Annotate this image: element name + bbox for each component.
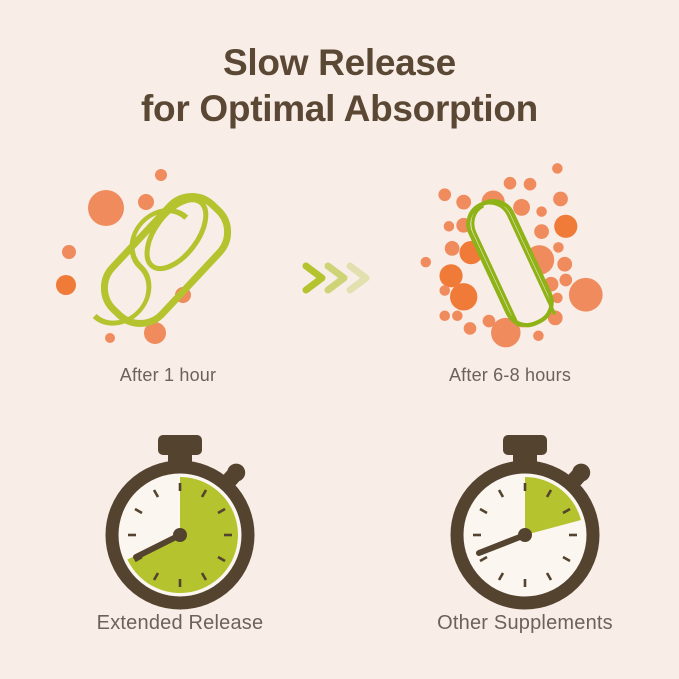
watch-caption-extended-release: Extended Release [55, 612, 305, 635]
stopwatch-icon-other-supplements [400, 440, 650, 605]
infographic-root: Slow Release for Optimal Absorption [0, 0, 679, 679]
comparison-row: After 1 hour [0, 160, 679, 410]
stage-after-1-hour: After 1 hour [48, 160, 288, 410]
stage-caption-after-1-hour: After 1 hour [48, 365, 288, 386]
watch-caption-other-supplements: Other Supplements [400, 612, 650, 635]
watch-other-supplements: Other Supplements [400, 440, 650, 670]
stage-after-6-8-hours: After 6-8 hours [390, 160, 630, 410]
stage-caption-after-6-8-hours: After 6-8 hours [390, 365, 630, 386]
page-title: Slow Release for Optimal Absorption [0, 40, 679, 132]
stopwatch-icon-extended-release [55, 440, 305, 605]
watch-extended-release: Extended Release [55, 440, 305, 670]
timing-row: Extended Release [0, 440, 679, 670]
title-line-2: for Optimal Absorption [0, 86, 679, 132]
title-line-1: Slow Release [0, 40, 679, 86]
tablet-illustration-small [390, 160, 630, 360]
tablet-illustration-large [48, 160, 288, 360]
chevrons-right-icon [300, 258, 380, 298]
